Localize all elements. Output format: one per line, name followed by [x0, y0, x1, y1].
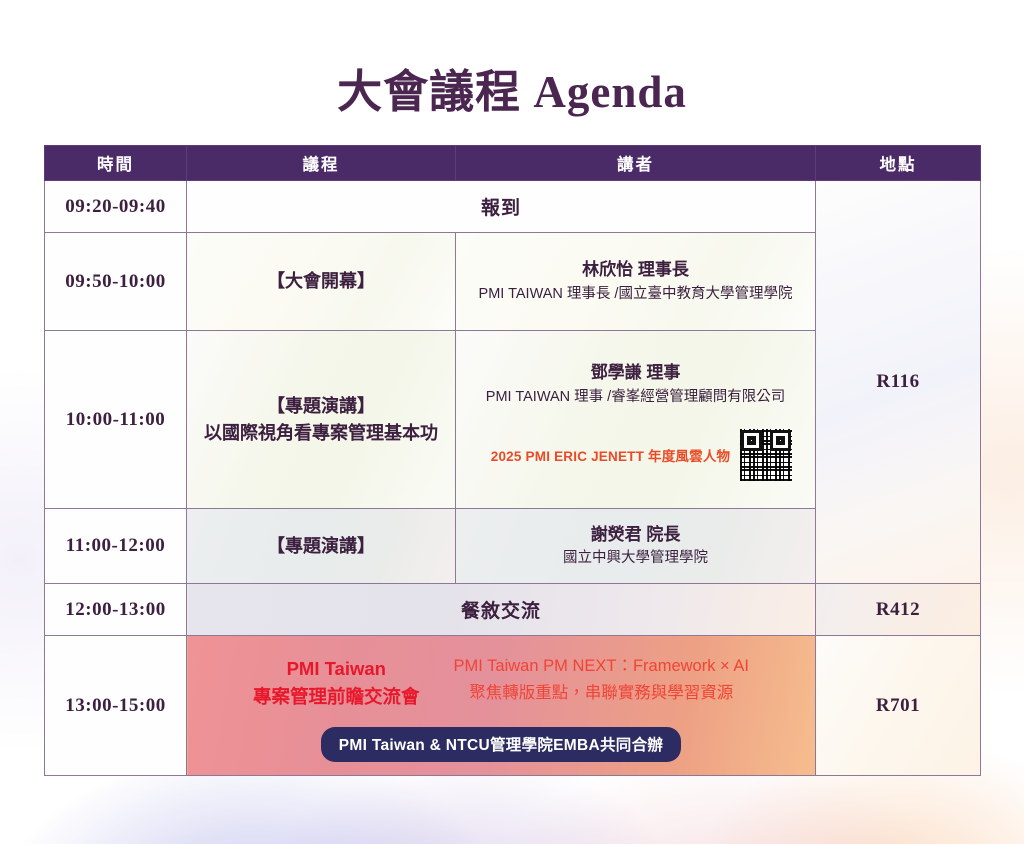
- cell-location-r116: R116: [816, 181, 981, 584]
- cell-topic-3: 【專題演講】 以國際視角看專案管理基本功: [187, 331, 456, 509]
- cell-session-6: PMI Taiwan 專案管理前瞻交流會 PMI Taiwan PM NEXT：…: [187, 636, 816, 776]
- table-header-row: 時間 議程 講者 地點: [45, 146, 981, 181]
- cell-session-5: 餐敘交流: [187, 584, 816, 636]
- speaker-name: 鄧學謙 理事: [462, 360, 809, 386]
- cell-session-1: 報到: [187, 181, 816, 233]
- cohost-badge: PMI Taiwan & NTCU管理學院EMBA共同合辦: [321, 727, 681, 762]
- table-row: 13:00-15:00 PMI Taiwan 專案管理前瞻交流會 PMI Tai…: [45, 636, 981, 776]
- award-row: 2025 PMI ERIC JENETT 年度風雲人物: [462, 429, 809, 481]
- cell-location-r701: R701: [816, 636, 981, 776]
- pmi-block-right: PMI Taiwan PM NEXT：Framework × AI 聚焦轉版重點…: [454, 653, 749, 706]
- pmi-right-line-2: 聚焦轉版重點，串聯實務與學習資源: [454, 680, 749, 706]
- speaker-org: 國立中興大學管理學院: [456, 547, 815, 570]
- pmi-left-line-1: PMI Taiwan: [253, 655, 420, 683]
- cell-time-4: 11:00-12:00: [45, 509, 187, 584]
- speaker-org: PMI TAIWAN 理事 /睿峯經營管理顧問有限公司: [462, 386, 809, 409]
- topic-line-2: 以國際視角看專案管理基本功: [187, 420, 455, 446]
- pmi-left-line-2: 專案管理前瞻交流會: [253, 683, 420, 711]
- cell-time-6: 13:00-15:00: [45, 636, 187, 776]
- cell-time-5: 12:00-13:00: [45, 584, 187, 636]
- cell-time-2: 09:50-10:00: [45, 233, 187, 331]
- speaker-org: PMI TAIWAN 理事長 /國立臺中教育大學管理學院: [456, 283, 815, 306]
- page-title: 大會議程 Agenda: [0, 55, 1024, 120]
- award-label: 2025 PMI ERIC JENETT 年度風雲人物: [491, 445, 730, 465]
- speaker-name: 謝熒君 院長: [456, 522, 815, 548]
- cell-time-1: 09:20-09:40: [45, 181, 187, 233]
- qr-code-icon[interactable]: [740, 429, 792, 481]
- cell-time-3: 10:00-11:00: [45, 331, 187, 509]
- agenda-page: 大會議程 Agenda 時間 議程 講者 地點 09:20-09:40 報到 R…: [0, 0, 1024, 844]
- speaker-name: 林欣怡 理事長: [456, 257, 815, 283]
- cell-topic-4: 【專題演講】: [187, 509, 456, 584]
- table-row: 12:00-13:00 餐敘交流 R412: [45, 584, 981, 636]
- cell-speaker-3: 鄧學謙 理事 PMI TAIWAN 理事 /睿峯經營管理顧問有限公司 2025 …: [456, 331, 816, 509]
- column-header-location: 地點: [816, 146, 981, 181]
- agenda-table: 時間 議程 講者 地點 09:20-09:40 報到 R116 09:50-10…: [44, 145, 981, 776]
- table-row: 09:20-09:40 報到 R116: [45, 181, 981, 233]
- column-header-topic: 議程: [187, 146, 456, 181]
- pmi-block-left: PMI Taiwan 專案管理前瞻交流會: [253, 653, 420, 711]
- cell-speaker-2: 林欣怡 理事長 PMI TAIWAN 理事長 /國立臺中教育大學管理學院: [456, 233, 816, 331]
- cell-topic-2: 【大會開幕】: [187, 233, 456, 331]
- topic-line-1: 【專題演講】: [187, 393, 455, 419]
- column-header-speaker: 講者: [456, 146, 816, 181]
- cell-location-r412: R412: [816, 584, 981, 636]
- pmi-right-line-1: PMI Taiwan PM NEXT：Framework × AI: [454, 653, 749, 679]
- cell-speaker-4: 謝熒君 院長 國立中興大學管理學院: [456, 509, 816, 584]
- column-header-time: 時間: [45, 146, 187, 181]
